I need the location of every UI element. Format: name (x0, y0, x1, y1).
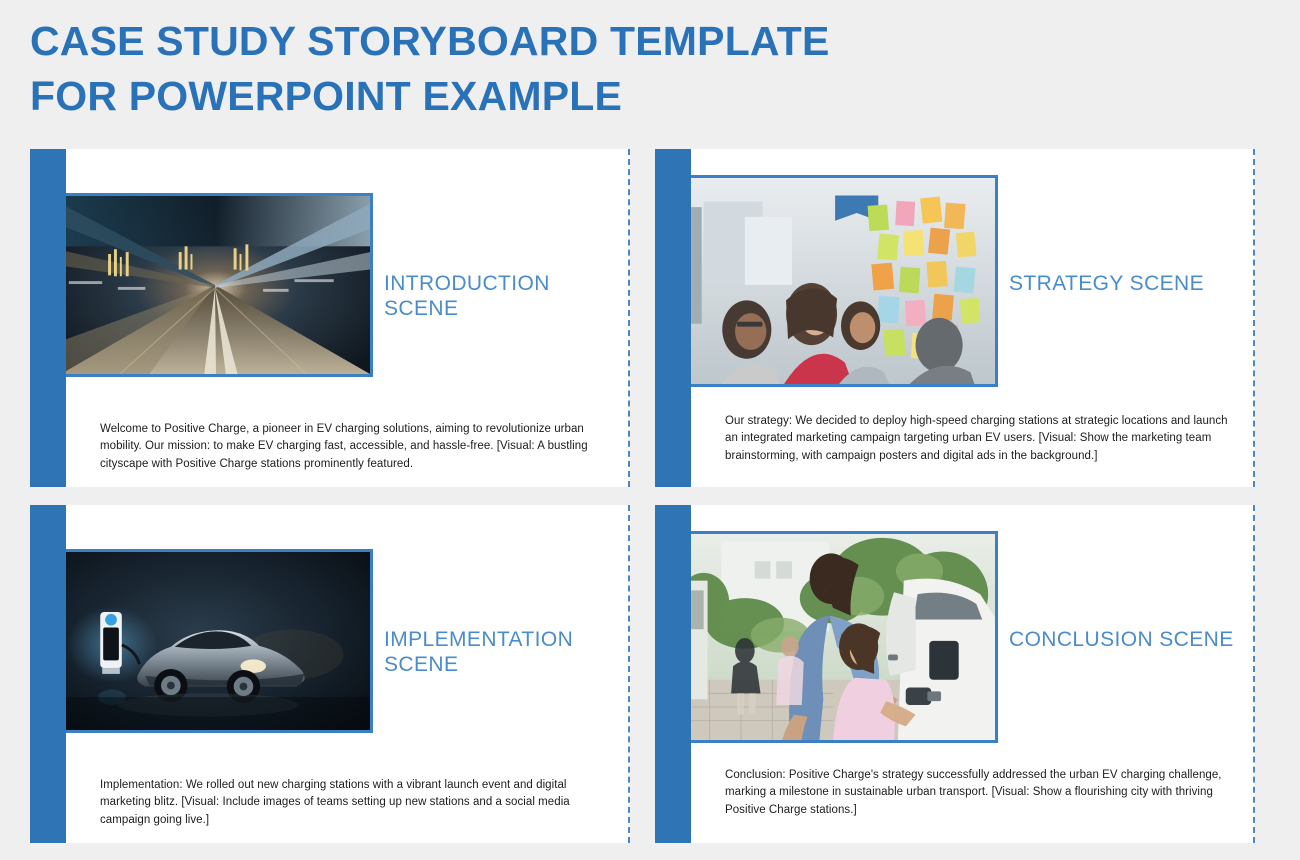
photo-artwork (61, 552, 370, 730)
scene-heading: CONCLUSION SCENE (1009, 627, 1249, 652)
team-brainstorming-sticky-notes-photo (683, 175, 998, 387)
storyboard-panel-implementation[interactable]: IMPLEMENTATION SCENE Implementation: We … (30, 505, 630, 843)
page-title: CASE STUDY STORYBOARD TEMPLATE FOR POWER… (30, 14, 1030, 123)
family-plugging-in-electric-car-photo (683, 531, 998, 743)
storyboard-panel-introduction[interactable]: INTRODUCTION SCENE Welcome to Positive C… (30, 149, 630, 487)
panel-content: CONCLUSION SCENE Conclusion: Positive Ch… (669, 505, 1255, 843)
storyboard-grid: INTRODUCTION SCENE Welcome to Positive C… (30, 149, 1255, 843)
scene-body-text: Implementation: We rolled out new chargi… (100, 777, 608, 829)
panel-accent-bar (655, 149, 691, 487)
page-title-line-1: CASE STUDY STORYBOARD TEMPLATE (30, 14, 1030, 69)
panel-content: STRATEGY SCENE Our strategy: We decided … (669, 149, 1255, 487)
scene-body-text: Conclusion: Positive Charge's strategy s… (725, 767, 1233, 819)
scene-body-text: Our strategy: We decided to deploy high-… (725, 413, 1233, 465)
scene-heading: INTRODUCTION SCENE (384, 271, 624, 321)
panel-accent-bar (30, 149, 66, 487)
panel-accent-bar (30, 505, 66, 843)
ev-car-charging-station-night-photo (58, 549, 373, 733)
storyboard-panel-strategy[interactable]: STRATEGY SCENE Our strategy: We decided … (655, 149, 1255, 487)
scene-heading: STRATEGY SCENE (1009, 271, 1249, 296)
scene-body-text: Welcome to Positive Charge, a pioneer in… (100, 421, 608, 473)
scene-heading: IMPLEMENTATION SCENE (384, 627, 624, 677)
panel-content: INTRODUCTION SCENE Welcome to Positive C… (44, 149, 630, 487)
panel-content: IMPLEMENTATION SCENE Implementation: We … (44, 505, 630, 843)
panel-accent-bar (655, 505, 691, 843)
photo-artwork (686, 178, 995, 384)
photo-artwork (686, 534, 995, 740)
page-title-line-2: FOR POWERPOINT EXAMPLE (30, 69, 1030, 124)
night-city-motion-blur-photo (58, 193, 373, 377)
storyboard-panel-conclusion[interactable]: CONCLUSION SCENE Conclusion: Positive Ch… (655, 505, 1255, 843)
photo-artwork (61, 196, 370, 374)
